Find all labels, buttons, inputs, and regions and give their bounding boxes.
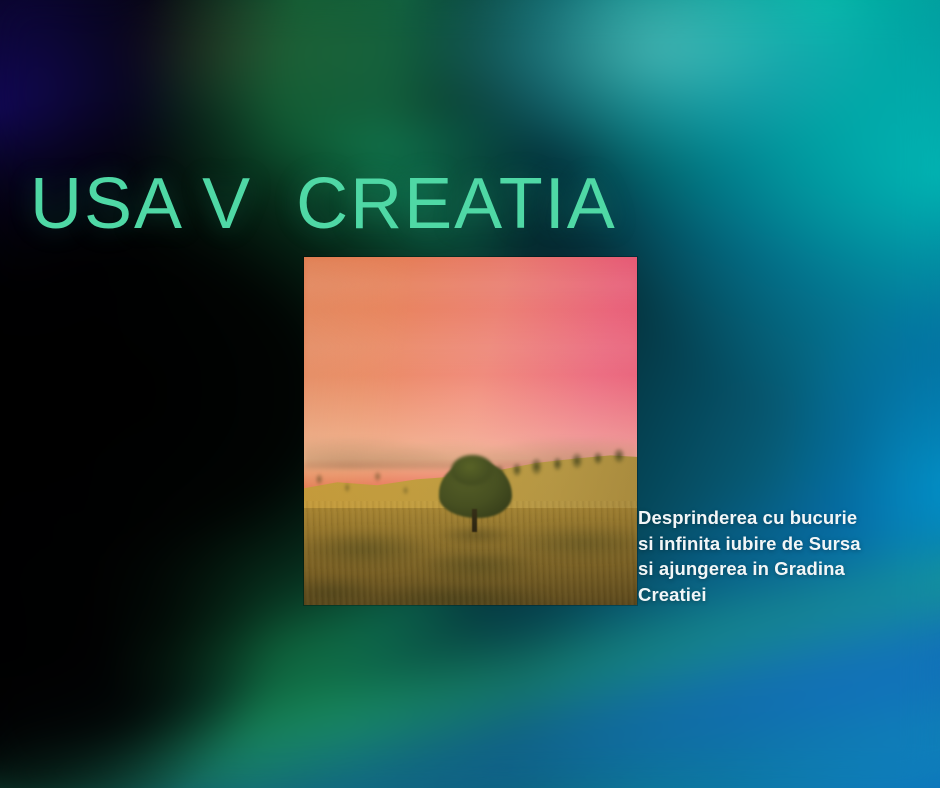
background-aurora-ribbon-teal xyxy=(0,610,940,788)
body-line: Creatiei xyxy=(638,582,900,608)
landscape-photo xyxy=(304,257,637,605)
poster-body-text: Desprinderea cu bucurie si infinita iubi… xyxy=(638,505,900,607)
body-line: si infinita iubire de Sursa xyxy=(638,531,900,557)
body-line: Desprinderea cu bucurie xyxy=(638,505,900,531)
poster-title: USA V CREATIA xyxy=(30,168,617,240)
body-line: si ajungerea in Gradina xyxy=(638,556,900,582)
photo-color-tone xyxy=(304,257,637,605)
poster-canvas: USA V CREATIA Desprinderea cu bucurie si… xyxy=(0,0,940,788)
